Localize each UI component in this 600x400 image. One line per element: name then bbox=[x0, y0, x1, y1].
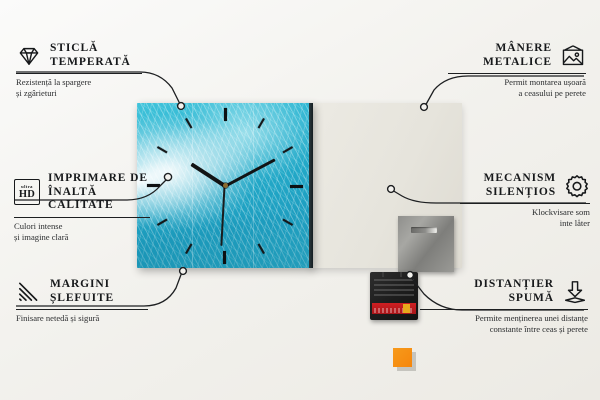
ultra-hd-icon-main-label: HD bbox=[19, 190, 35, 201]
mechanism-handle bbox=[382, 272, 402, 277]
part-metal-plate bbox=[398, 216, 454, 272]
callout-rule bbox=[460, 203, 590, 204]
gear-icon bbox=[564, 173, 590, 199]
callout-subtitle: Culori intense și imagine clară bbox=[14, 221, 150, 243]
mechanism-label-text bbox=[374, 279, 414, 299]
callout-metal-handles: MÂNERE METALICE Permit montarea ușoară a… bbox=[448, 42, 586, 99]
callout-rule bbox=[14, 217, 150, 218]
callout-tempered-glass: STICLĂ TEMPERATĂ Rezistență la spargere … bbox=[16, 42, 142, 99]
tick-3 bbox=[225, 185, 303, 187]
connector-dot-polished-edges bbox=[180, 268, 187, 275]
hatch-lines-icon bbox=[16, 279, 42, 305]
clock-glass-edge bbox=[309, 103, 313, 268]
hanger-slot bbox=[411, 227, 437, 233]
callout-rule bbox=[16, 73, 142, 74]
callout-rule bbox=[448, 73, 586, 74]
part-foam-spacer bbox=[393, 348, 412, 367]
callout-subtitle: Rezistență la spargere și zgârieturi bbox=[16, 77, 142, 99]
tick-12 bbox=[224, 108, 226, 186]
infographic-canvas: STICLĂ TEMPERATĂ Rezistență la spargere … bbox=[0, 0, 600, 400]
callout-title: MÂNERE METALICE bbox=[483, 42, 552, 69]
tick-8 bbox=[157, 185, 226, 226]
callout-rule bbox=[16, 309, 148, 310]
battery-label-text bbox=[374, 308, 414, 313]
callout-silent-mechanism: MECANISM SILENȚIOS Klockvisare som inte … bbox=[460, 172, 590, 229]
callout-subtitle: Klockvisare som inte låter bbox=[460, 207, 590, 229]
down-arrow-layer-icon bbox=[562, 279, 588, 305]
callout-subtitle: Finisare netedă și sigură bbox=[16, 313, 148, 324]
mechanism-battery-strip bbox=[372, 303, 416, 314]
tick-9 bbox=[147, 185, 225, 187]
callout-polished-edges: MARGINI ȘLEFUITE Finisare netedă și sigu… bbox=[16, 278, 148, 324]
callout-title: IMPRIMARE DE ÎNALTĂ CALITATE bbox=[48, 172, 150, 213]
callout-title: STICLĂ TEMPERATĂ bbox=[50, 42, 131, 69]
picture-hanger-icon bbox=[560, 43, 586, 69]
callout-title: DISTANȚIER SPUMĂ bbox=[474, 278, 554, 305]
callout-hd-print: ultra HD IMPRIMARE DE ÎNALTĂ CALITATE Cu… bbox=[14, 172, 150, 243]
clock-hub bbox=[223, 183, 228, 188]
clock-face bbox=[137, 103, 313, 268]
callout-foam-spacer: DISTANȚIER SPUMĂ Permite menținerea unei… bbox=[420, 278, 588, 335]
part-clock-mechanism bbox=[370, 272, 418, 320]
callout-subtitle: Permite menținerea unei distanțe constan… bbox=[420, 313, 588, 335]
callout-rule bbox=[420, 309, 588, 310]
product-photo bbox=[137, 103, 462, 268]
ultra-hd-icon: ultra HD bbox=[14, 179, 40, 205]
callout-subtitle: Permit montarea ușoară a ceasului pe per… bbox=[448, 77, 586, 99]
diamond-icon bbox=[16, 43, 42, 69]
callout-title: MARGINI ȘLEFUITE bbox=[50, 278, 114, 305]
callout-title: MECANISM SILENȚIOS bbox=[484, 172, 556, 199]
